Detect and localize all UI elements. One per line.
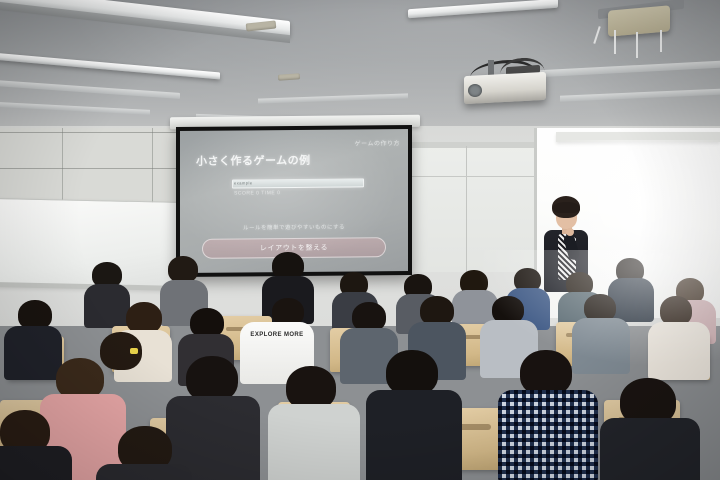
- cabinet-top-trim: [402, 142, 536, 148]
- audience-torso: [4, 326, 62, 380]
- classroom-photo: ゲームの作り方 小さく作るゲームの例 example SCORE 0 TIME …: [0, 0, 720, 480]
- shirt-graphic-text: EXPLORE MORE: [246, 332, 308, 338]
- audience-torso: [366, 390, 462, 480]
- audience-torso: [84, 284, 130, 328]
- slide-input-value: example: [234, 180, 253, 185]
- presenter-hair-front: [553, 202, 580, 213]
- projector-lens-icon: [468, 84, 482, 97]
- fixture-wire: [614, 30, 616, 54]
- audience-torso: [600, 418, 700, 480]
- audience-torso-plaid: [498, 390, 598, 480]
- fixture-wire: [660, 30, 662, 52]
- audience-torso: [268, 404, 360, 480]
- audience-torso: [96, 464, 192, 480]
- slide-kicker: ゲームの作り方: [355, 138, 400, 147]
- hair-clip: [130, 348, 138, 354]
- fixture-wire: [636, 32, 638, 58]
- audience-torso: [608, 278, 654, 322]
- slide-title: 小さく作るゲームの例: [196, 152, 311, 169]
- slide-body-text: ルールを簡単で遊びやすいものにする: [243, 223, 345, 232]
- presenter-hand: [566, 228, 574, 236]
- audience-torso: [0, 446, 72, 480]
- slide-field-caption: SCORE 0 TIME 0: [234, 190, 280, 196]
- wall-seam: [152, 128, 153, 210]
- audience-head: [168, 256, 198, 283]
- seated-audience: EXPLORE MORE: [0, 250, 720, 480]
- wall-seam: [62, 128, 63, 210]
- cabinet-seam: [404, 176, 536, 177]
- audience-torso: [572, 318, 630, 374]
- wall-seam: [0, 132, 186, 133]
- audience-torso: [648, 322, 710, 380]
- wall-seam: [0, 168, 186, 169]
